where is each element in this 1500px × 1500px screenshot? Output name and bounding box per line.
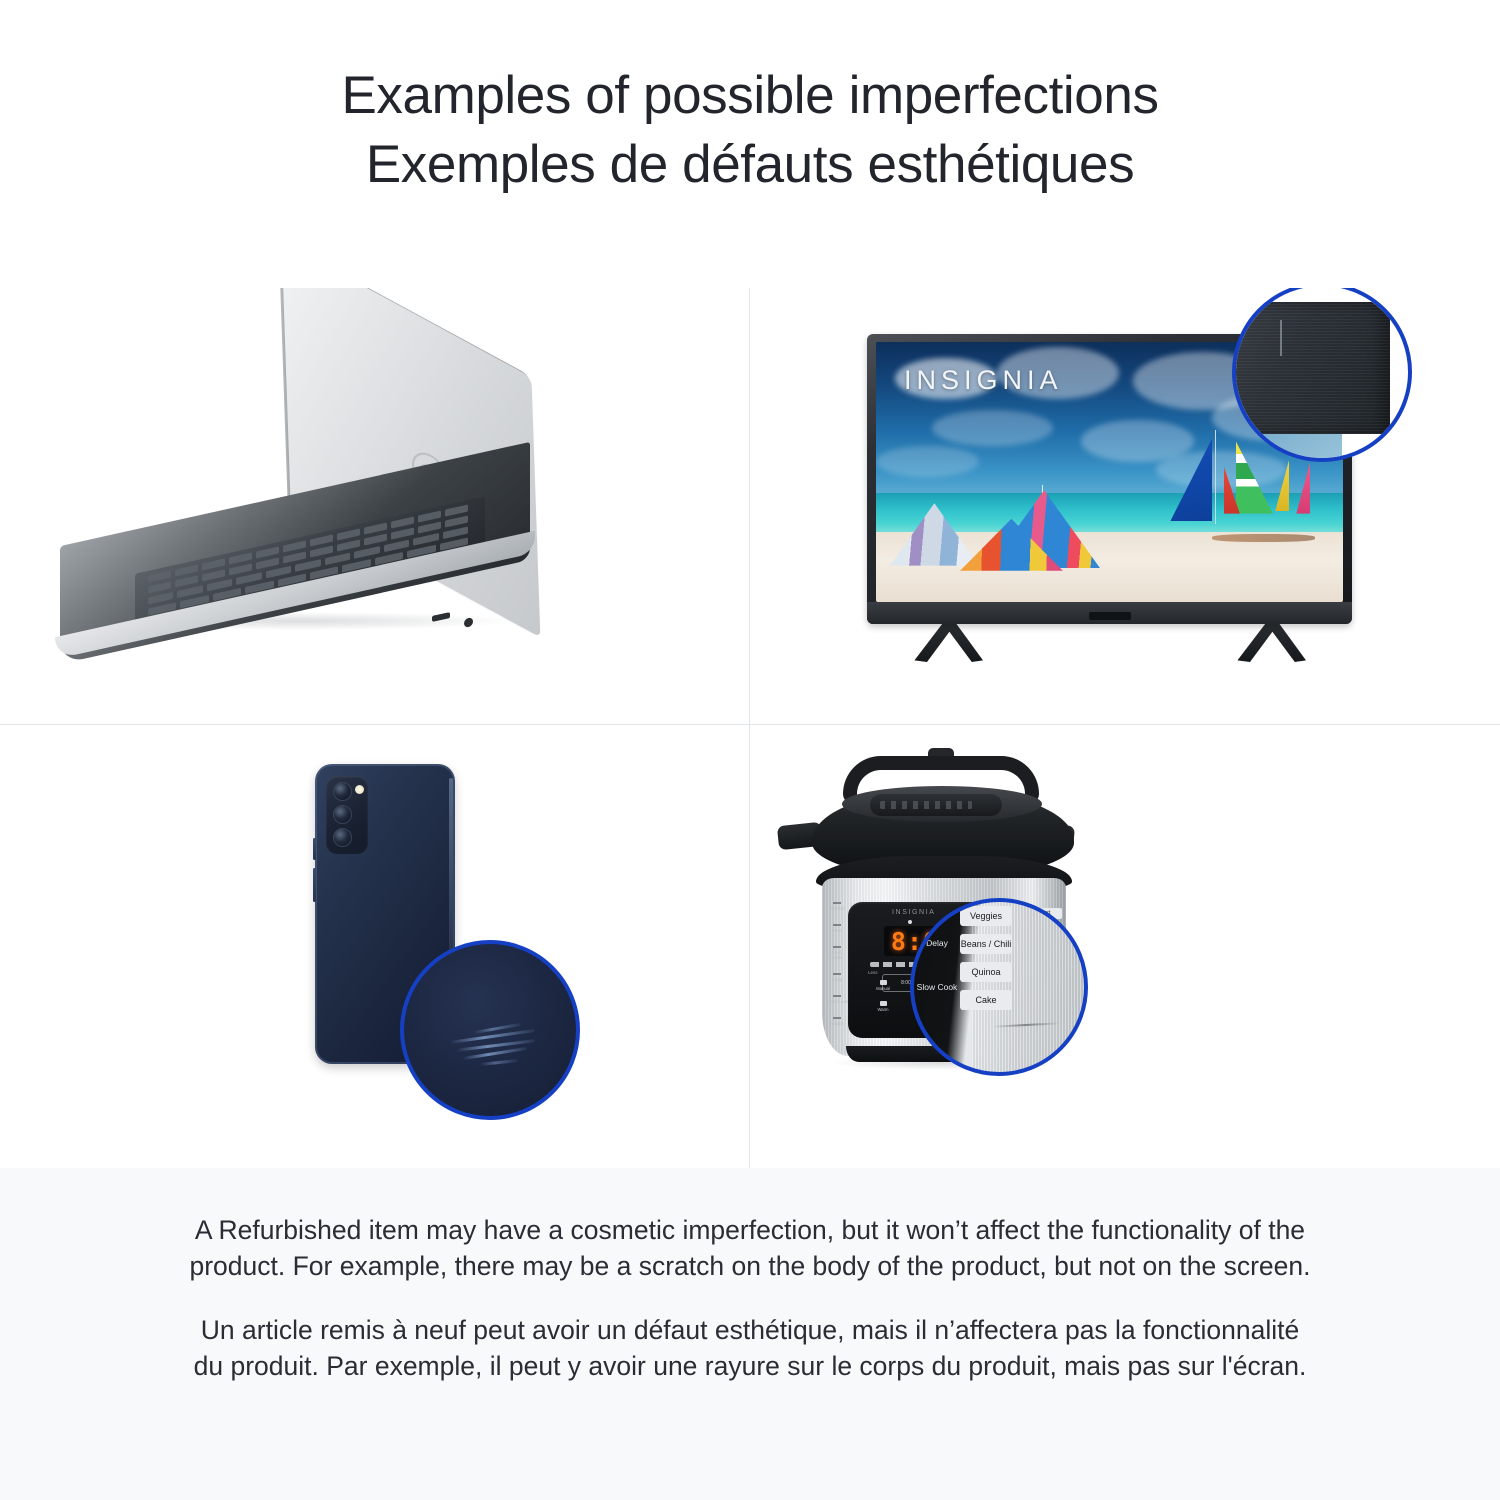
laptop-audio-jack-icon [464,617,473,628]
footer-paragraph-english: A Refurbished item may have a cosmetic i… [185,1212,1315,1284]
camera-lens-icon [333,805,352,824]
cooker-bar-label-less: Less [868,970,878,975]
camera-lens-icon [333,828,352,847]
tv-leg-right [1236,620,1306,662]
magnifier-circle-tv-bezel-defect [1232,288,1412,462]
example-cell-pressure-cooker: Cereal Rice Multi Grain Soup Slow Cook P… [750,728,1500,1168]
cooker-status-led-icon [908,920,912,924]
tv-ir-receiver-icon [1089,612,1131,620]
example-cell-smartphone [0,728,750,1168]
pressure-cooker-illustration: Cereal Rice Multi Grain Soup Slow Cook P… [750,728,1500,1168]
smartphone-volume-up-button [313,838,316,860]
cooker-key-warm[interactable]: Warm [868,1001,898,1012]
cooker-button-multigrain[interactable]: Multi Grain [826,946,848,960]
cooker-button-slowcook[interactable]: Slow Cook [826,995,848,1004]
laptop-illustration [0,288,750,728]
example-cell-laptop [0,288,750,728]
tv-bezel-texture [1232,302,1390,434]
cooker-button-rice[interactable]: Rice [826,924,848,933]
cooker-magnified-left-labels: Delay Slow Cook [916,938,958,1026]
smartphone-camera-module [326,776,368,854]
page-header: Examples of possible imperfections Exemp… [0,0,1500,288]
page-title-english: Examples of possible imperfections [341,62,1158,131]
footer-paragraph-french: Un article remis à neuf peut avoir un dé… [185,1312,1315,1384]
phone-scuff-mark [480,1059,518,1066]
cooker-lid-vent-panel [870,794,1002,816]
cooker-button-soup[interactable]: Soup [826,973,848,982]
cooker-magnified-label-beans-chili: Beans / Chili [960,934,1012,954]
television-illustration: INSIGNIA [750,288,1500,728]
cooker-magnified-label-delay: Delay [916,938,958,948]
cooker-brand-logo: INSIGNIA [892,909,936,916]
cooker-magnified-label-quinoa: Quinoa [960,962,1012,982]
tv-scene-cloud [932,410,1053,446]
refurbished-imperfections-infographic: Examples of possible imperfections Exemp… [0,0,1500,1500]
camera-lens-icon [333,782,352,801]
cooker-magnified-label-cake: Cake [960,990,1012,1010]
magnifier-circle-cooker-scratch: Delay Slow Cook Veggies Beans / Chili Qu… [910,898,1088,1076]
tv-scene-beached-boat [1212,534,1315,542]
cooker-key-manual[interactable]: Manual [868,980,898,996]
camera-flash-icon [355,785,364,794]
tv-magnified-bezel-corner [1232,302,1390,434]
cooker-button-cereal[interactable]: Cereal [826,902,848,911]
cooker-left-button-column: Cereal Rice Multi Grain Soup Slow Cook P… [826,902,848,1039]
smartphone-volume-down-button [313,868,316,902]
tv-bottom-bezel [867,602,1352,624]
tv-bezel-seam-defect [1280,320,1282,356]
page-footer: A Refurbished item may have a cosmetic i… [0,1168,1500,1500]
grid-horizontal-divider [0,724,1500,725]
cooker-magnified-label-slowcook: Slow Cook [916,982,958,992]
examples-grid: INSIGNIA [0,288,1500,1168]
cooker-magnified-right-labels: Veggies Beans / Chili Quinoa Cake [960,906,1012,1018]
tv-leg-left [913,620,983,662]
magnifier-circle-phone-scuffs [400,940,580,1120]
tv-scene-mast [1215,430,1216,524]
cooker-magnified-label-veggies: Veggies [960,906,1012,926]
tv-scene-cloud [876,446,979,477]
grid-vertical-divider [749,288,750,1168]
cooker-button-poultry[interactable]: Poultry [826,1017,848,1026]
example-cell-television: INSIGNIA [750,288,1500,728]
smartphone-illustration [0,728,750,1168]
page-title-french: Exemples de défauts esthétiques [366,131,1134,200]
tv-brand-logo: INSIGNIA [904,365,1063,396]
